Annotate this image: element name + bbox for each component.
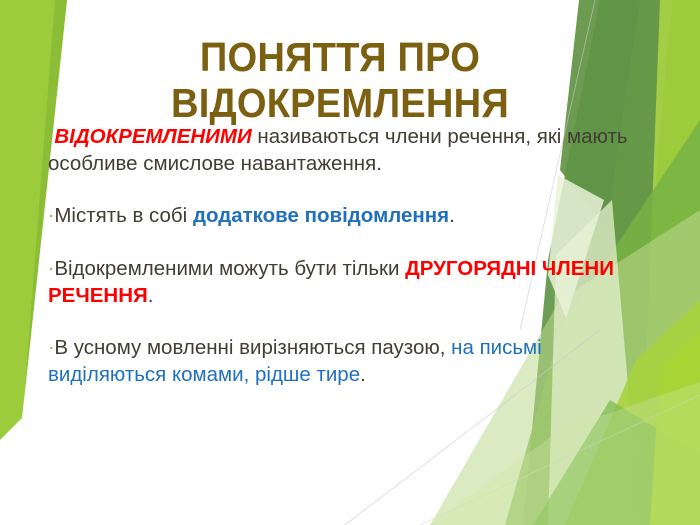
emphasis-term-vidokremlenymy: ВІДОКРЕМЛЕНИМИ — [54, 125, 251, 148]
list-item: ·Містять в собі додаткове повідомлення. — [48, 203, 648, 230]
slide-content: ПОНЯТТЯ ПРО ВІДОКРЕМЛЕННЯ ·ВІДОКРЕМЛЕНИМ… — [0, 0, 700, 525]
list-item-text-tail: . — [449, 204, 455, 227]
list-item-text: Містять в собі — [54, 204, 193, 227]
presentation-slide: ПОНЯТТЯ ПРО ВІДОКРЕМЛЕННЯ ·ВІДОКРЕМЛЕНИМ… — [0, 0, 700, 525]
list-item-text: Відокремленими можуть бути тільки — [54, 257, 405, 280]
emphasis-term-dodatkove-povidomlennia: додаткове повідомлення — [193, 204, 449, 227]
list-item-text-tail: . — [360, 363, 366, 386]
bullet-list: ·ВІДОКРЕМЛЕНИМИ називаються члени реченн… — [48, 124, 648, 388]
list-item-text: В усному мовленні вирізняються паузою, — [54, 336, 451, 359]
list-item: ·ВІДОКРЕМЛЕНИМИ називаються члени реченн… — [48, 124, 648, 177]
list-item: ·Відокремленими можуть бути тільки ДРУГО… — [48, 256, 648, 309]
list-item-text-tail: . — [148, 284, 154, 307]
list-item: ·В усному мовленні вирізняються паузою, … — [48, 335, 648, 388]
page-title: ПОНЯТТЯ ПРО ВІДОКРЕМЛЕННЯ — [80, 35, 601, 127]
